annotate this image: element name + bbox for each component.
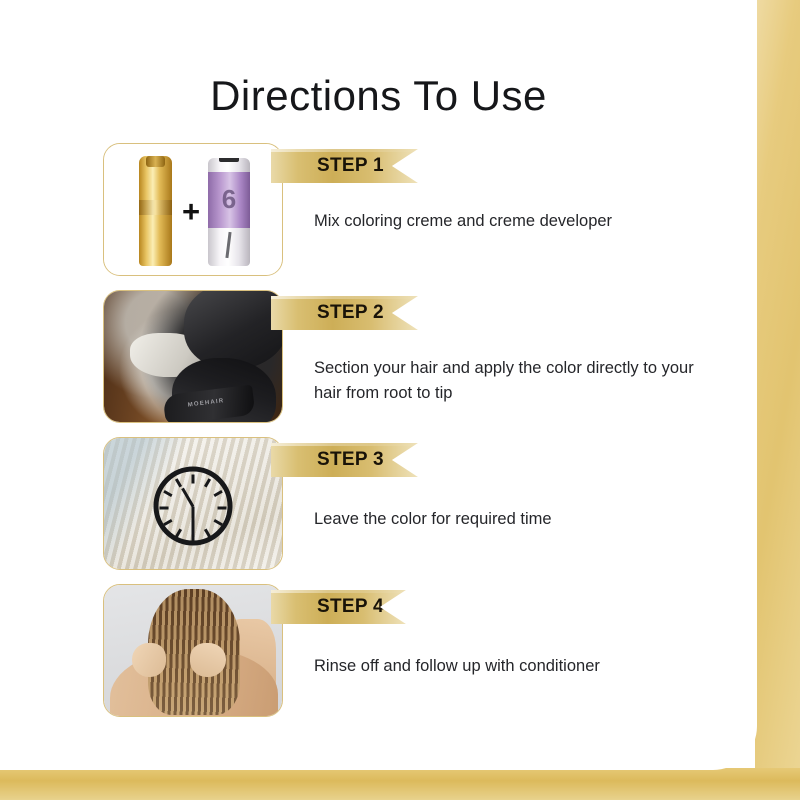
step-2-description: Section your hair and apply the color di… bbox=[314, 356, 694, 407]
list-item: STEP 3 Leave the color for required time bbox=[0, 434, 757, 581]
plus-icon: + bbox=[182, 196, 200, 227]
step-2-badge-label: STEP 2 bbox=[317, 302, 384, 324]
step-1-description: Mix coloring creme and creme developer bbox=[314, 209, 714, 235]
list-item: STEP 2 Section your hair and apply the c… bbox=[0, 287, 757, 434]
step-3-badge-label: STEP 3 bbox=[317, 449, 384, 471]
bottle-label bbox=[208, 172, 250, 228]
rinsing-hair-photo bbox=[104, 585, 282, 716]
tube-icon bbox=[139, 156, 172, 266]
steps-list: + STEP 1 Mix coloring creme and creme de… bbox=[0, 140, 757, 728]
step-3-description: Leave the color for required time bbox=[314, 507, 714, 533]
page-title: Directions To Use bbox=[0, 72, 757, 120]
step-1-image: + bbox=[104, 144, 282, 275]
step-2-thumbnail bbox=[103, 290, 283, 423]
step-1-thumbnail: + bbox=[103, 143, 283, 276]
step-4-description: Rinse off and follow up with conditioner bbox=[314, 654, 714, 680]
bottle-icon bbox=[208, 158, 250, 266]
step-4-thumbnail bbox=[103, 584, 283, 717]
directions-to-use-poster: Directions To Use + bbox=[0, 0, 800, 800]
clock-minute-hand bbox=[192, 506, 195, 533]
step-4-badge: STEP 4 bbox=[271, 590, 406, 624]
step-3-badge: STEP 3 bbox=[271, 443, 418, 477]
clock-icon bbox=[154, 467, 233, 546]
list-item: + STEP 1 Mix coloring creme and creme de… bbox=[0, 140, 757, 287]
step-4-image bbox=[104, 585, 282, 716]
step-2-badge: STEP 2 bbox=[271, 296, 418, 330]
hair-application-photo bbox=[104, 291, 282, 422]
step-1-badge: STEP 1 bbox=[271, 149, 418, 183]
left-hand-shape bbox=[132, 643, 166, 677]
bottle-cap bbox=[219, 158, 239, 162]
bottle-stripe bbox=[225, 232, 231, 258]
gold-border-right bbox=[755, 0, 800, 800]
step-1-badge-label: STEP 1 bbox=[317, 155, 384, 177]
step-2-image bbox=[104, 291, 282, 422]
product-duo-illustration: + bbox=[104, 144, 282, 275]
step-4-badge-label: STEP 4 bbox=[317, 596, 384, 618]
list-item: STEP 4 Rinse off and follow up with cond… bbox=[0, 581, 757, 728]
gold-border-bottom bbox=[0, 768, 800, 800]
step-3-thumbnail bbox=[103, 437, 283, 570]
right-hand-shape bbox=[190, 643, 226, 677]
clock-hour-hand bbox=[181, 487, 194, 507]
step-3-image bbox=[104, 438, 282, 569]
glove-icon bbox=[184, 291, 282, 369]
bleached-hair-photo bbox=[104, 438, 282, 569]
